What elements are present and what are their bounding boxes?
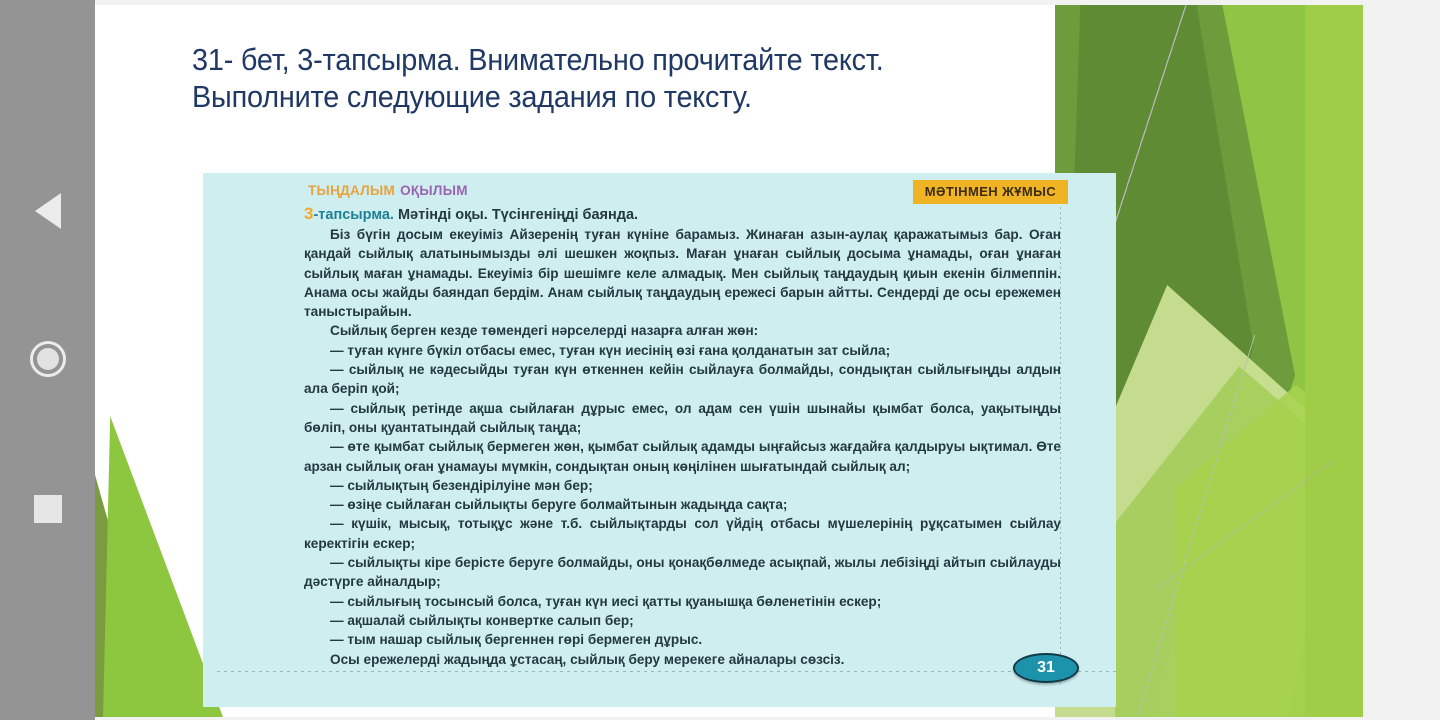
page-title: 31- бет, 3-тапсырма. Внимательно прочита… [192,42,1029,115]
facet-hairline-3 [1155,460,1335,590]
textbook-body-text: Біз бүгін досым екеуіміз Айзеренің туған… [304,225,1061,669]
facet-shape-green-7 [1305,5,1363,717]
textbook-paragraph: — сыйлықты кіре берісте беруге болмайды,… [304,553,1061,592]
work-with-text-badge: МӘТІНМЕН ЖҰМЫС [913,180,1068,204]
task-word: -тапсырма. [313,207,394,223]
textbook-paragraph: Осы ережелерді жадыңда ұстасаң, сыйлық б… [304,650,1061,669]
textbook-paragraph: — сыйлық не кәдесыйды туған күн өткеннен… [304,360,1061,399]
textbook-page-image: ТЫҢДАЛЫМОҚЫЛЫМ МӘТІНМЕН ЖҰМЫС 3-тапсырма… [203,173,1116,707]
square-icon [34,495,62,523]
textbook-paragraph: — сыйлықтың безендірілуіне мән бер; [304,476,1061,495]
slide-canvas: 31- бет, 3-тапсырма. Внимательно прочита… [95,5,1363,717]
screen: 31- бет, 3-тапсырма. Внимательно прочита… [0,0,1440,720]
textbook-paragraph: — ақшалай сыйлықты конвертке салып бер; [304,611,1061,630]
page-title-line-2: Выполните следующие задания по тексту. [192,79,1029,116]
textbook-header-row: ТЫҢДАЛЫМОҚЫЛЫМ МӘТІНМЕН ЖҰМЫС [203,177,1116,201]
task-heading: 3-тапсырма.Мәтінді оқы. Түсінгеніңді бая… [304,204,638,224]
textbook-paragraph: — тым нашар сыйлық бергеннен гөрі бермег… [304,630,1061,649]
textbook-paragraph: — сыйлық ретінде ақша сыйлаған дұрыс еме… [304,399,1061,438]
page-title-line-1: 31- бет, 3-тапсырма. Внимательно прочита… [192,42,1029,79]
android-nav-bar [0,0,95,720]
dotted-divider-horizontal [217,671,1116,672]
textbook-paragraph: Біз бүгін досым екеуіміз Айзеренің туған… [304,225,1061,321]
recent-apps-button[interactable] [0,484,95,534]
textbook-paragraph: — өзіңе сыйлаған сыйлықты беруге болмайт… [304,495,1061,514]
textbook-paragraph: — сыйлығың тосынсый болса, туған күн иес… [304,592,1061,611]
textbook-paragraph: — өте қымбат сыйлық бермеген жөн, қымбат… [304,437,1061,476]
task-instruction: Мәтінді оқы. Түсінгеніңді баянда. [398,207,638,223]
home-button[interactable] [0,334,95,384]
skills-kicker: ТЫҢДАЛЫМОҚЫЛЫМ [308,183,468,198]
back-button[interactable] [0,186,95,236]
textbook-paragraph: — күшік, мысық, тотықұс және т.б. сыйлық… [304,514,1061,553]
textbook-paragraph: Сыйлық берген кезде төмендегі нәрселерді… [304,321,1061,340]
circle-ring-icon [30,341,66,377]
triangle-left-icon [35,193,61,229]
page-number-badge: 31 [1013,653,1079,683]
kicker-listening: ТЫҢДАЛЫМ [308,183,395,198]
kicker-reading: ОҚЫЛЫМ [400,183,468,198]
textbook-paragraph: — туған күнге бүкіл отбасы емес, туған к… [304,341,1061,360]
